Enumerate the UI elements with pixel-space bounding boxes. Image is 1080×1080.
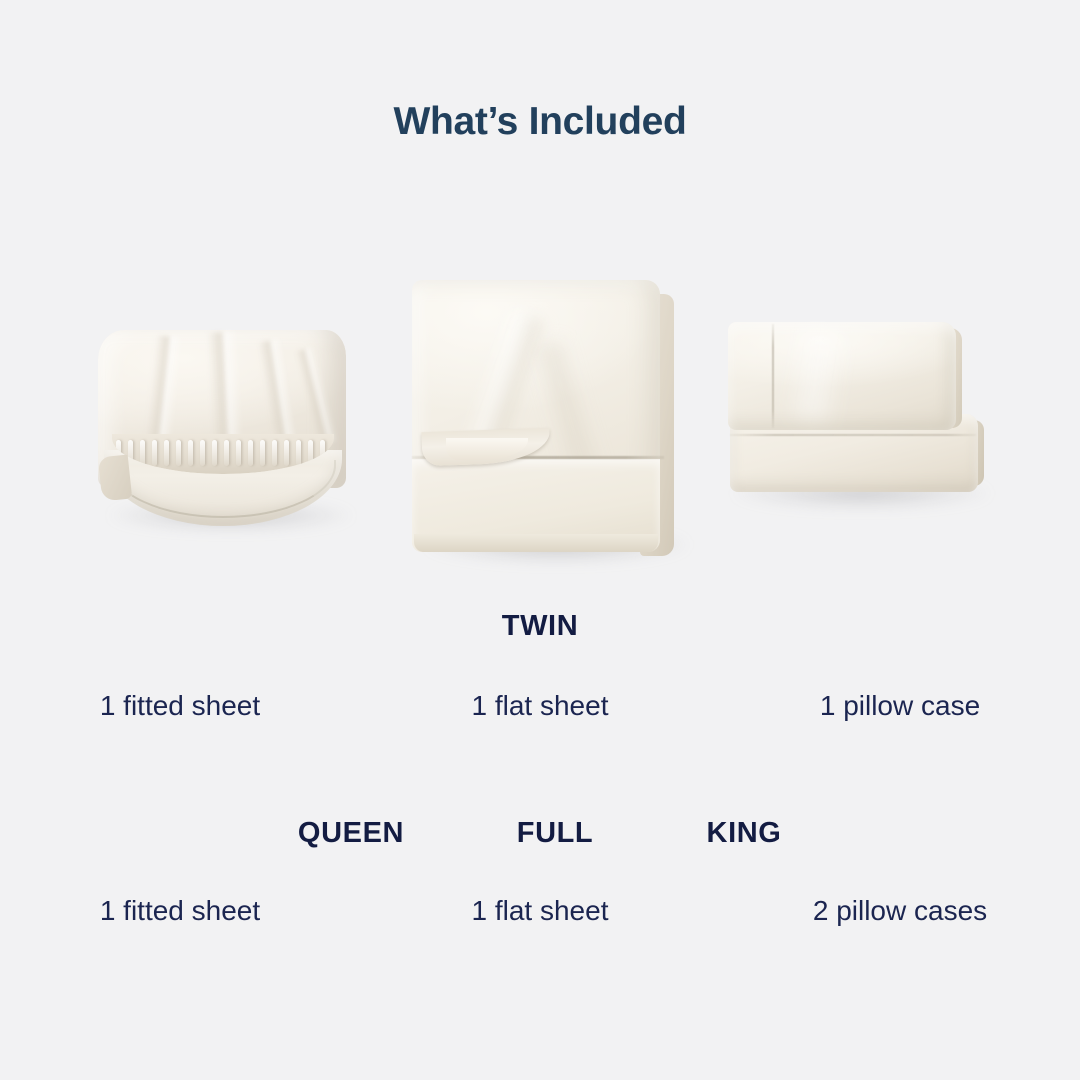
elastic-gather	[272, 440, 277, 466]
item-fitted-sheet-qfk: 1 fitted sheet	[0, 895, 360, 927]
item-pillow-cases-qfk: 2 pillow cases	[720, 895, 1080, 927]
elastic-gather	[236, 440, 241, 466]
fabric-crease	[295, 347, 338, 445]
size-label-king: KING	[653, 817, 835, 850]
elastic-gather	[152, 440, 157, 466]
elastic-gather	[260, 440, 265, 466]
elastic-gather	[308, 440, 313, 466]
size-label-queen: QUEEN	[245, 817, 457, 850]
elastic-gather	[212, 440, 217, 466]
items-row-queen-full-king: 1 fitted sheet 1 flat sheet 2 pillow cas…	[0, 895, 1080, 927]
flat-sheet-image	[412, 280, 680, 570]
size-label-twin: TWIN	[502, 610, 579, 643]
fabric-sheen	[782, 329, 850, 424]
elastic-gather	[176, 440, 181, 466]
elastic-gather	[164, 440, 169, 466]
pillow-cases-image	[728, 322, 994, 522]
flat-sheet-bottom-edge	[414, 534, 658, 552]
fitted-sheet-image	[98, 330, 354, 535]
elastic-gather	[284, 440, 289, 466]
item-fitted-sheet-twin: 1 fitted sheet	[0, 690, 360, 722]
elastic-gather	[320, 440, 325, 466]
elastic-gather	[296, 440, 301, 466]
item-flat-sheet-qfk: 1 flat sheet	[360, 895, 720, 927]
page-title: What’s Included	[0, 100, 1080, 144]
top-pillow-case-hem-seam	[772, 324, 774, 428]
item-pillow-case-twin: 1 pillow case	[720, 690, 1080, 722]
elastic-gather	[200, 440, 205, 466]
elastic-gather	[248, 440, 253, 466]
size-row-twin: TWIN	[0, 610, 1080, 643]
fitted-sheet-corner-lip	[98, 455, 132, 502]
top-pillow-case	[728, 322, 956, 430]
items-row-twin: 1 fitted sheet 1 flat sheet 1 pillow cas…	[0, 690, 1080, 722]
elastic-gather	[224, 440, 229, 466]
elastic-gather	[128, 440, 133, 466]
product-image-stage	[0, 270, 1080, 590]
whats-included-infographic: What’s Included	[0, 0, 1080, 1080]
bottom-pillow-case-seam	[730, 434, 976, 436]
elastic-gather	[188, 440, 193, 466]
elastic-gather	[140, 440, 145, 466]
size-label-full: FULL	[457, 817, 653, 850]
size-row-queen-full-king: QUEEN FULL KING	[0, 817, 1080, 850]
item-flat-sheet-twin: 1 flat sheet	[360, 690, 720, 722]
